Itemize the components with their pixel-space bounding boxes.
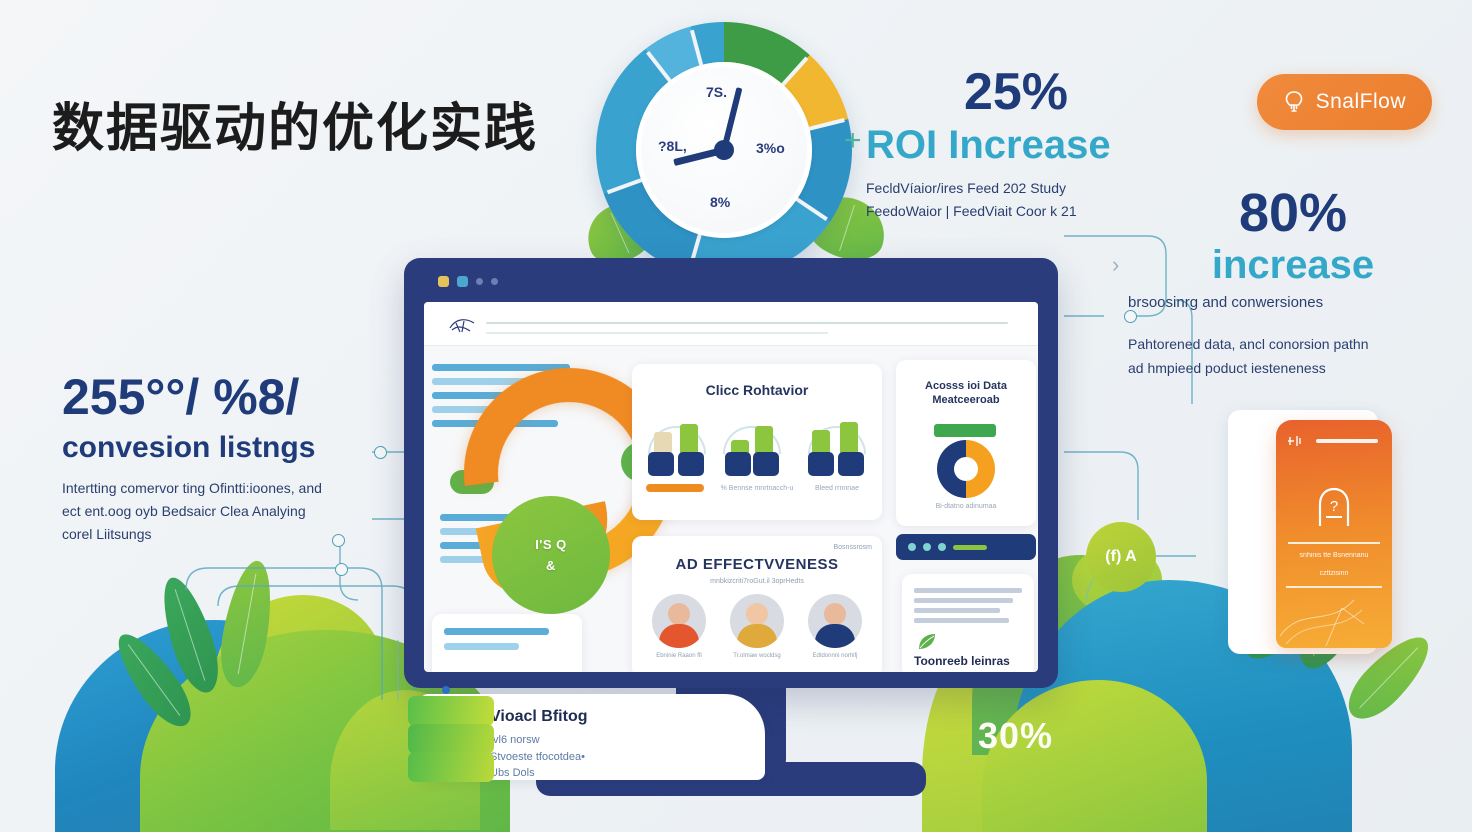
minibar-column [680, 424, 698, 454]
callout-roi-desc-1: FecldVíaior/ires Feed 202 Study [866, 178, 1166, 198]
percent-badge-30: 30% [978, 715, 1053, 757]
card-ad-effectiveness[interactable]: Bosnssrosm AD EFFECTVVENESS mnbkizcriti7… [632, 536, 882, 672]
avatar-head [668, 603, 690, 625]
card-ad-subtitle: mnbkizcriti7roGut.il 3oprHedts [632, 578, 882, 585]
text-line [914, 618, 1009, 623]
callout-roi-number: 25% [866, 66, 1166, 118]
coin-stack [408, 696, 494, 792]
gauge-label-left: ?8L, [658, 138, 687, 154]
text-line [914, 598, 1013, 603]
desktop-monitor: I'S Q & Clicc Rohtavior [404, 258, 1058, 688]
callout-conversion-label: convesion listngs [62, 432, 407, 464]
avatar-caption: Edtdonnni norhifj [808, 653, 862, 659]
avatar [808, 594, 862, 648]
avatar [730, 594, 784, 648]
card-access-data[interactable]: Acosss ioi Data Meatceeroab Bi-dtatno ad… [896, 360, 1036, 526]
performance-gauge: 7S. ?8L, 3%o 8% [596, 22, 852, 278]
access-data-bar [934, 424, 996, 437]
callout-increase: › 80% increase brsoosinrg and conwersion… [1128, 186, 1458, 378]
callout-roi-label: ROI Increase [866, 124, 1166, 166]
address-bar-subline [486, 332, 828, 334]
metric-badge-green[interactable]: (f) A [1086, 522, 1156, 592]
plus-icon: + [844, 124, 862, 158]
card-insight-panel[interactable]: Toonreeb leinras [902, 574, 1034, 672]
avatar-head [746, 603, 768, 625]
infographic-canvas: 数据驱动的优化实践 SnalFlow 7S. ?8L, 3%o 8% [0, 0, 1472, 832]
callout-conversion-desc-1: Intertting comervor ting Ofintti:ioones,… [62, 478, 407, 498]
callout-roi: + 25% ROI Increase FecldVíaior/ires Feed… [866, 66, 1166, 222]
titlebar-dot-cyan [457, 276, 468, 287]
nav-dot[interactable] [908, 543, 916, 551]
callout-increase-desc-2: ad hmpieed poduct iesteneness [1128, 358, 1458, 378]
minibar-column [755, 426, 773, 454]
minibar-column [654, 432, 672, 454]
minibar-column [812, 430, 830, 454]
page-title: 数据驱动的优化实践 [52, 86, 538, 161]
minibar-group: % Bennse mnrtnacch-u [721, 424, 794, 492]
metric-badge-text: (f) A [1105, 548, 1136, 566]
minibar-cap [648, 452, 674, 476]
text-line [914, 608, 1000, 613]
phone-status-icon [1286, 434, 1306, 448]
card-access-data-caption: Bi-dtatno adinumaa [896, 503, 1036, 510]
callout-conversion: 255°°/ %8/ convesion listngs Intertting … [62, 372, 407, 544]
minibar-cap [808, 452, 834, 476]
callout-increase-number: 80% [1128, 186, 1458, 240]
nav-active-indicator [953, 545, 987, 550]
avatar-body [659, 624, 699, 648]
phone-divider [1288, 542, 1380, 544]
window-titlebar-dots [438, 276, 498, 287]
left-panel-card [432, 614, 582, 672]
callout-increase-label: increase [1128, 244, 1458, 286]
brand-name: SnalFlow [1316, 90, 1406, 114]
minibar-caption: Bleed rrnnnae [806, 485, 868, 492]
card-click-behavior[interactable]: Clicc Rohtavior [632, 364, 882, 520]
chevron-right-icon: › [1112, 252, 1119, 278]
bottom-card-line-1: Ivl6 norsw [490, 732, 585, 749]
coin [408, 724, 494, 754]
callout-conversion-number: 255°°/ %8/ [62, 372, 407, 422]
leaf-icon [916, 632, 938, 652]
phone-mockup[interactable]: ? snhinis tte Bsnennanu czttzisinn [1276, 420, 1392, 648]
minibar-cap [678, 452, 704, 476]
minibar-group: Bleed rrnnnae [806, 424, 868, 492]
card-insight-title: Toonreeb leinras [914, 654, 1010, 668]
dashboard-nav-tabs[interactable] [896, 534, 1036, 560]
dashboard-body: I'S Q & Clicc Rohtavior [424, 346, 1038, 672]
minibar-cap [753, 452, 779, 476]
address-bar[interactable] [486, 322, 1008, 324]
avatar-item: Tr.olmaw wocldsg [730, 594, 784, 659]
bottom-card-lines: Ivl6 norsw Stvoeste tfocotdea• Ubs Dols [490, 732, 585, 782]
phone-chart-lines [1276, 588, 1392, 648]
minibar-highlight-bar [646, 484, 704, 492]
list-row [444, 643, 519, 650]
gauge-hand-pivot [714, 140, 734, 160]
avatar [652, 594, 706, 648]
avatar-head [824, 603, 846, 625]
lightbulb-icon [1283, 90, 1305, 114]
lock-question-icon: ? [1312, 486, 1356, 528]
bottom-card-line-2: Stvoeste tfocotdea• [490, 749, 585, 766]
nav-dot[interactable] [923, 543, 931, 551]
minibar-column [840, 422, 858, 454]
coin [408, 696, 494, 726]
card-access-data-title-line2: Meatceeroab [896, 394, 1036, 406]
card-ad-title: AD EFFECTVVENESS [632, 556, 882, 573]
access-data-donut [937, 440, 995, 498]
minibar-cap [725, 452, 751, 476]
card-access-data-title-line1: Acosss ioi Data [896, 380, 1036, 392]
minibar-cap [838, 452, 864, 476]
dashboard-overlay-badge: I'S Q & [492, 496, 610, 614]
browser-logo-icon [448, 314, 480, 336]
callout-increase-desc-1: Pahtorened data, ancl conorsion pathn [1128, 334, 1458, 354]
avatar-body [737, 624, 777, 648]
titlebar-dot-2 [491, 278, 498, 285]
callout-conversion-desc-3: corel Liitsungs [62, 524, 407, 544]
nav-dot[interactable] [938, 543, 946, 551]
callout-conversion-desc-2: ect ent.oog oyb Bedsaicr Clea Analying [62, 501, 407, 521]
connector-node-bottom-1 [335, 563, 348, 576]
overlay-badge-line1: I'S Q [535, 537, 567, 552]
coin [408, 752, 494, 782]
avatar-item: Edtdonnni norhifj [808, 594, 862, 659]
avatar-item: Ebninie Raaon ffi [652, 594, 706, 659]
minibar-group [646, 424, 708, 492]
gauge-label-right: 3%o [756, 140, 785, 156]
avatar-caption: Tr.olmaw wocldsg [730, 653, 784, 659]
card-ad-corner-tag: Bosnssrosm [833, 544, 872, 551]
titlebar-dot-1 [476, 278, 483, 285]
phone-caption: snhinis tte Bsnennanu [1284, 552, 1384, 559]
callout-roi-desc-2: FeedoWaior | FeedViait Coor k 21 [866, 201, 1166, 221]
callout-increase-caption: brsoosinrg and conwersiones [1128, 292, 1458, 314]
gauge-label-top: 7S. [706, 84, 727, 100]
browser-toolbar [424, 302, 1038, 346]
phone-subcaption: czttzisinn [1284, 570, 1384, 577]
card-click-behavior-title: Clicc Rohtavior [632, 382, 882, 398]
gauge-label-bottom: 8% [710, 194, 730, 210]
coin-marker [442, 686, 450, 694]
avatar-caption: Ebninie Raaon ffi [652, 653, 706, 659]
titlebar-dot-yellow [438, 276, 449, 287]
text-line [914, 588, 1022, 593]
brand-badge[interactable]: SnalFlow [1257, 74, 1432, 130]
svg-text:?: ? [1330, 498, 1338, 515]
overlay-badge-line2: & [546, 558, 556, 573]
bottom-card-line-3: Ubs Dols [490, 765, 585, 782]
minibar-caption: % Bennse mnrtnacch-u [721, 485, 794, 492]
list-row [444, 628, 549, 635]
monitor-screen: I'S Q & Clicc Rohtavior [424, 302, 1038, 672]
phone-status-bar [1316, 439, 1378, 443]
bottom-card-title: Vioacl Bfitog [490, 708, 588, 726]
avatar-body [815, 624, 855, 648]
